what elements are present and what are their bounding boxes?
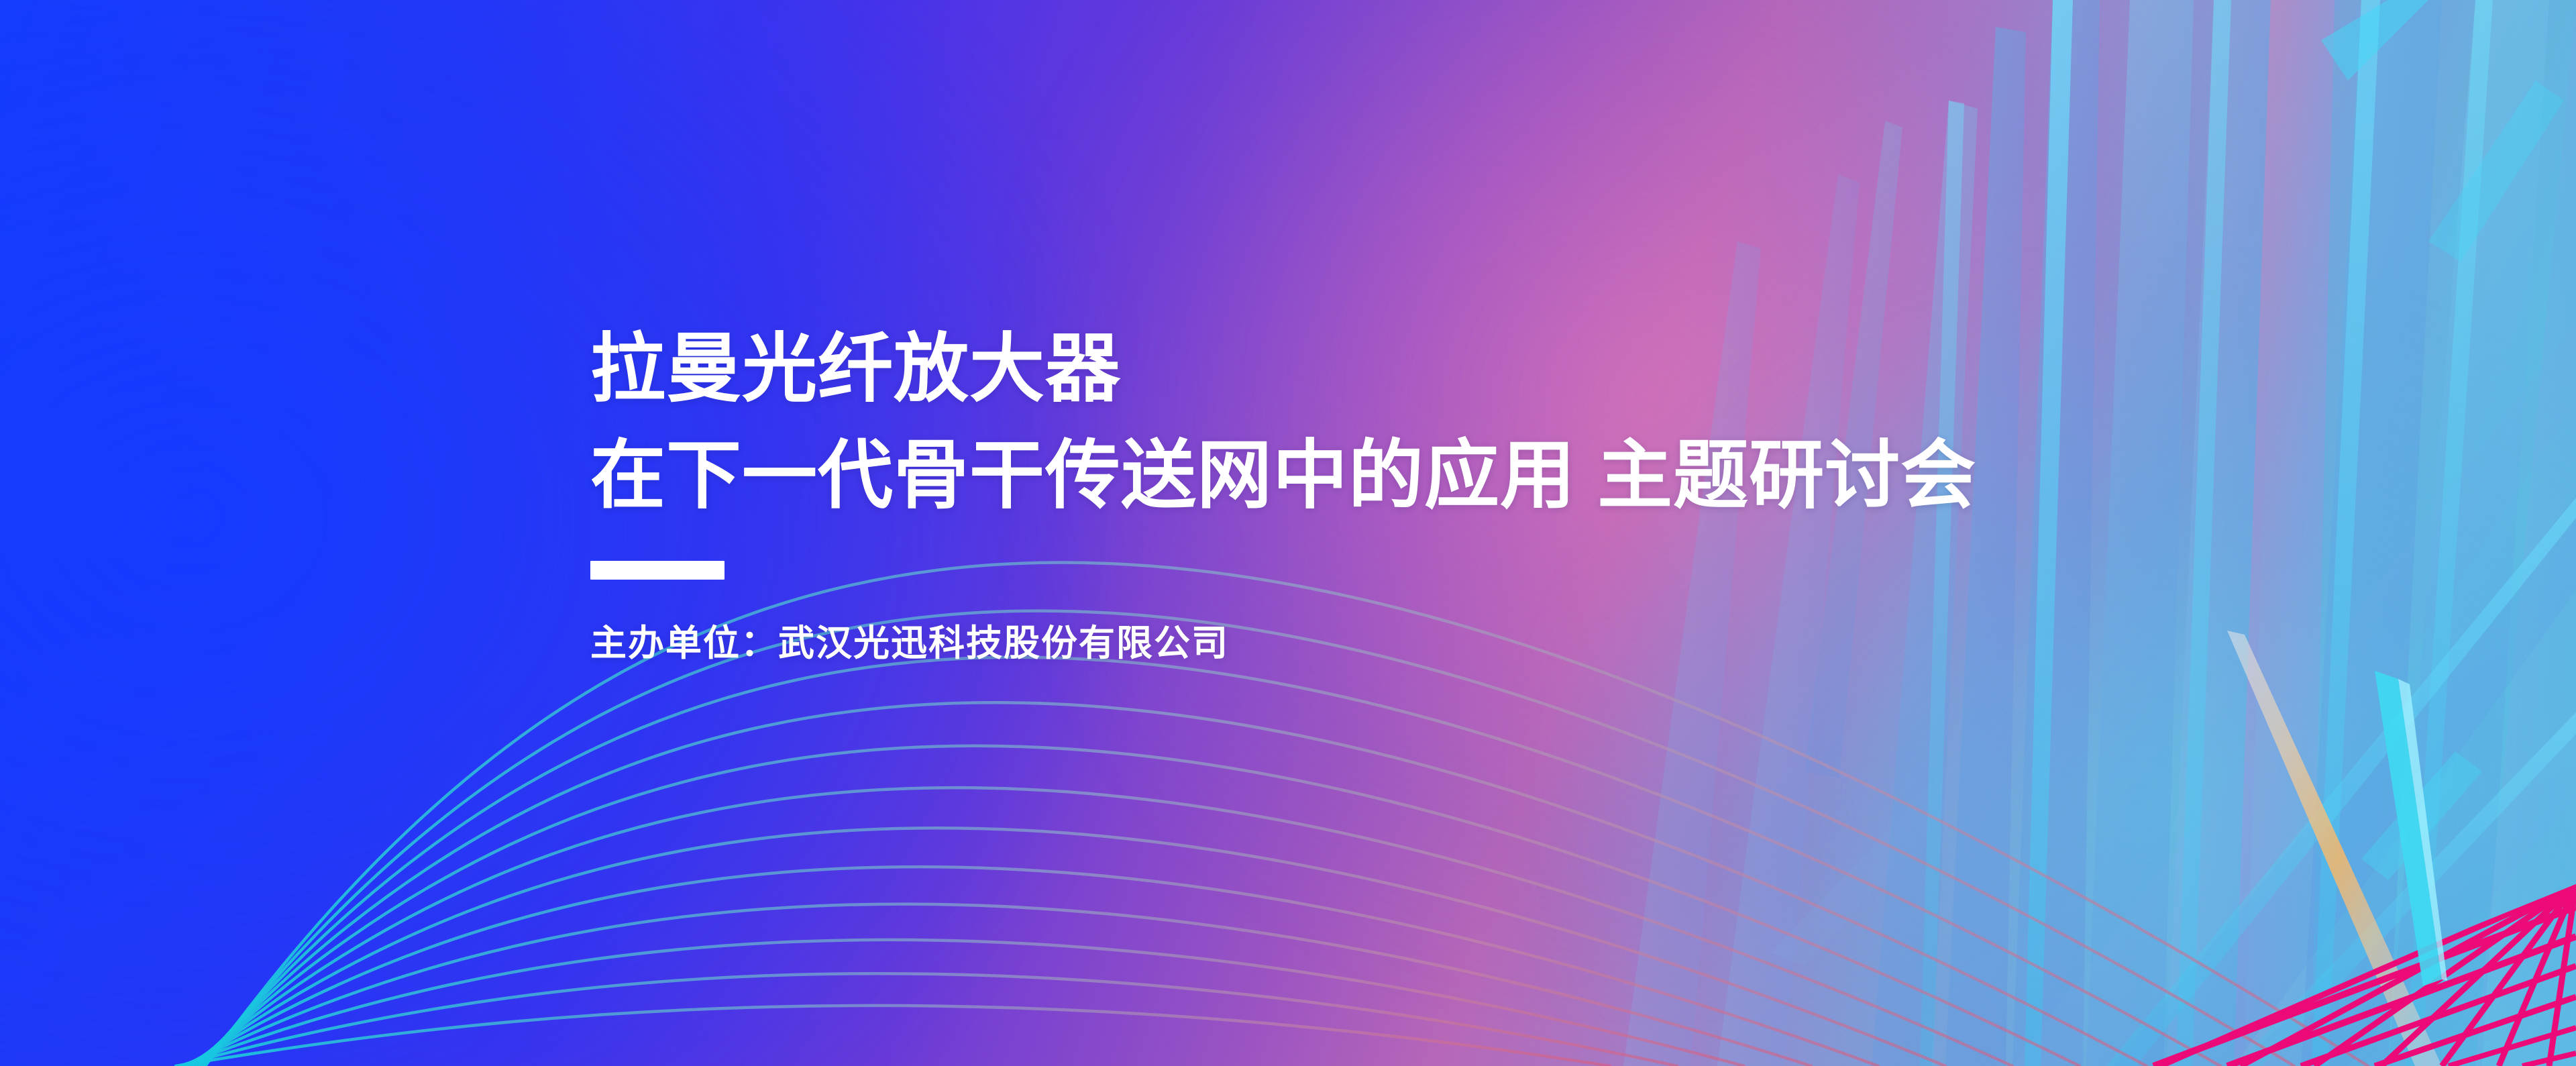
banner-title-line-1: 拉曼光纤放大器 [590,315,2200,422]
banner-organizer: 主办单位：武汉光迅科技股份有限公司 [590,621,2200,667]
event-banner: 拉曼光纤放大器 在下一代骨干传送网中的应用 主题研讨会 主办单位：武汉光迅科技股… [0,0,2576,1066]
title-divider [590,561,724,580]
banner-content: 拉曼光纤放大器 在下一代骨干传送网中的应用 主题研讨会 主办单位：武汉光迅科技股… [590,315,2200,667]
banner-title-line-2: 在下一代骨干传送网中的应用 主题研讨会 [590,422,2200,529]
